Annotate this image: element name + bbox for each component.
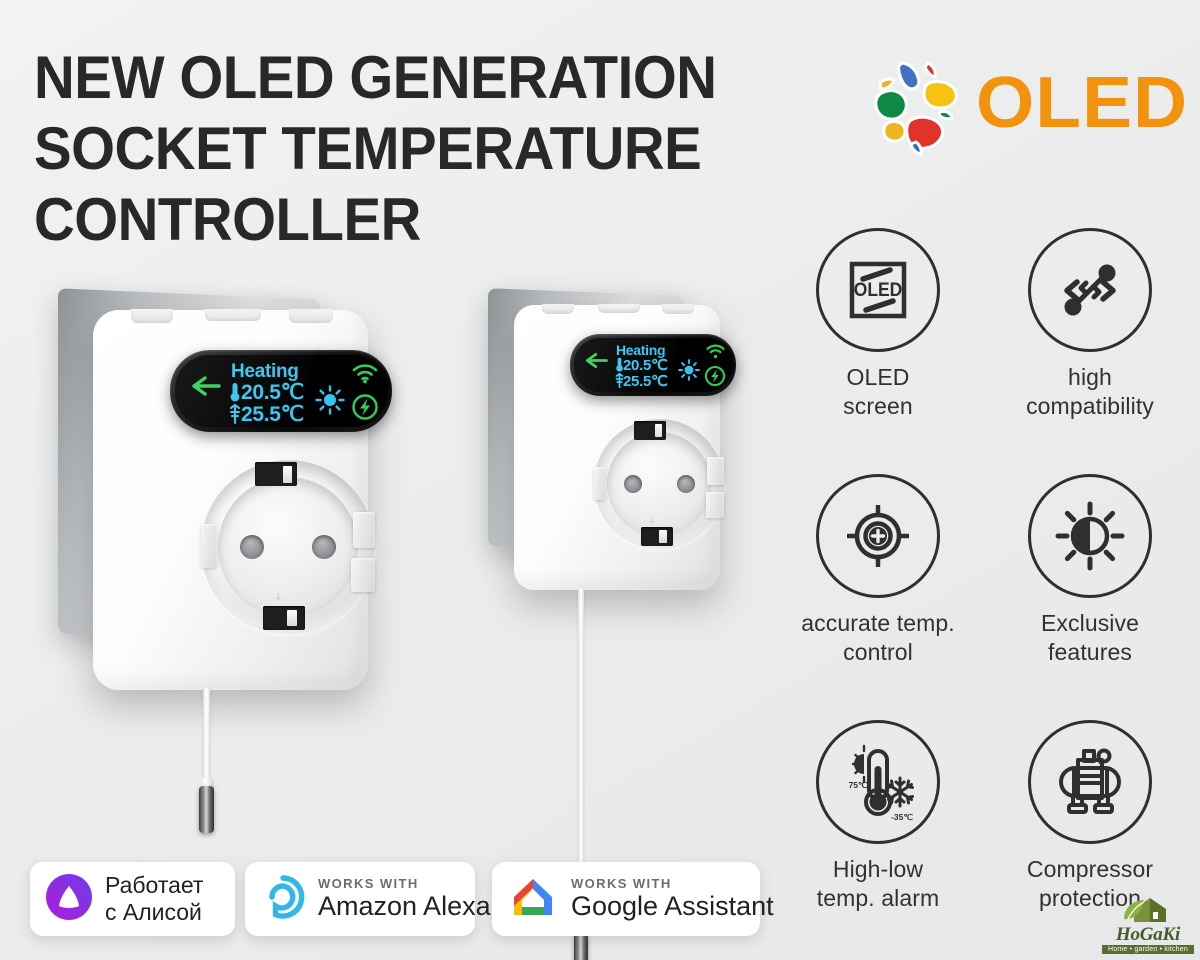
earth-contact-left — [201, 524, 217, 568]
top-notch — [131, 309, 173, 323]
badge-title: Google Assistant — [571, 891, 774, 922]
badge-title: Работает — [105, 872, 203, 899]
oled-display[interactable]: Heating 20.5℃ 25.5℃ — [170, 350, 392, 432]
badge-subtitle: с Алисой — [105, 899, 203, 926]
top-notch — [289, 309, 333, 323]
earth-contact-right — [707, 457, 724, 485]
back-arrow-icon — [191, 375, 221, 397]
compressor-icon — [1028, 720, 1152, 844]
primary-socket-thermostat: Heating 20.5℃ 25.5℃ — [46, 288, 396, 848]
hogaki-watermark: HoGaKi Home • garden • kitchen — [1102, 895, 1194, 954]
schuko-socket: ⏚ — [201, 460, 375, 634]
shutter-slot-bottom — [263, 606, 305, 630]
crosshair-target-icon — [816, 474, 940, 598]
google-home-icon — [508, 874, 558, 925]
feature-label: OLEDscreen — [778, 363, 978, 421]
feature-label: highcompatibility — [990, 363, 1190, 421]
badge-title: Amazon Alexa — [318, 891, 491, 922]
high-temp-label: 75℃ — [848, 780, 867, 790]
feature-label: High-lowtemp. alarm — [778, 855, 978, 913]
schuko-socket: ⏚ — [594, 419, 724, 549]
wifi-icon — [351, 362, 379, 384]
product-marketing-banner: NEW OLED GENERATION SOCKET TEMPERATURE C… — [0, 0, 1200, 960]
feature-label: accurate temp.control — [778, 609, 978, 667]
svg-text:OLED: OLED — [854, 278, 903, 300]
feature-oled-screen[interactable]: OLED OLEDscreen — [778, 228, 978, 421]
shutter-slot-bottom — [641, 527, 673, 546]
back-arrow-icon — [585, 352, 608, 369]
power-bolt-icon — [704, 365, 726, 387]
badge-works-with-google-assistant[interactable]: WORKS WITH Google Assistant — [492, 862, 760, 936]
headline-line-3: CONTROLLER — [34, 184, 814, 255]
compatibility-icon — [1028, 228, 1152, 352]
earth-contact-left — [594, 467, 606, 500]
socket-pin-hole — [624, 475, 642, 493]
badge-kicker: WORKS WITH — [571, 876, 774, 891]
watermark-name: HoGaKi — [1102, 925, 1194, 945]
thermometer-icon — [228, 382, 242, 402]
earth-symbol-icon: ⏚ — [274, 593, 283, 602]
badge-works-with-alice[interactable]: Работает с Алисой — [30, 862, 235, 936]
oled-display-surface: Heating 20.5℃ 25.5℃ — [574, 338, 732, 392]
badge-kicker: WORKS WITH — [318, 876, 491, 891]
earth-symbol-icon: ⏚ — [648, 518, 656, 526]
oled-pinwheel-icon — [866, 52, 970, 156]
secondary-socket-thermostat: Heating 20.5℃ 25.5℃ — [480, 288, 740, 948]
page-title: NEW OLED GENERATION SOCKET TEMPERATURE C… — [34, 42, 864, 255]
temperature-probe-tip — [574, 933, 588, 960]
hogaki-leaf-house-icon — [1120, 895, 1176, 925]
feature-compressor-protection[interactable]: Compressorprotection — [990, 720, 1190, 913]
feature-high-low-temp-alarm[interactable]: 75℃ -35℃ High-lowte — [778, 720, 978, 913]
wifi-icon — [705, 343, 726, 359]
socket-pin-hole — [312, 535, 336, 559]
shutter-slot-top — [255, 462, 297, 486]
oled-display[interactable]: Heating 20.5℃ 25.5℃ — [570, 334, 736, 396]
socket-pin-hole — [240, 535, 264, 559]
feature-high-compatibility[interactable]: highcompatibility — [990, 228, 1190, 421]
earth-contact-right-lower — [351, 558, 375, 592]
power-bolt-icon — [351, 393, 379, 421]
temperature-probe-tip — [199, 786, 214, 833]
amazon-alexa-icon — [261, 875, 305, 924]
earth-contact-right — [353, 512, 375, 548]
temperature-probe-cable — [203, 688, 210, 786]
low-temp-label: -35℃ — [891, 812, 913, 822]
oled-wordmark: OLED — [976, 64, 1188, 142]
top-notch — [598, 304, 640, 313]
target-temp-value: 25.5℃ — [623, 372, 668, 390]
badge-works-with-alexa[interactable]: WORKS WITH Amazon Alexa — [245, 862, 475, 936]
top-notch — [662, 304, 694, 314]
yandex-alice-icon — [46, 874, 92, 925]
socket-recess-inner: ⏚ — [218, 477, 358, 617]
sun-icon — [315, 385, 345, 415]
feature-label: Exclusivefeatures — [990, 609, 1190, 667]
socket-recess-inner: ⏚ — [607, 432, 711, 536]
brightness-sun-icon — [1028, 474, 1152, 598]
sun-icon — [678, 359, 700, 381]
setpoint-icon — [228, 404, 242, 424]
headline-line-2: SOCKET TEMPERATURE — [34, 113, 814, 184]
earth-contact-right-lower — [706, 492, 724, 518]
oled-brand-logo: OLED — [866, 48, 1116, 160]
headline-line-1: NEW OLED GENERATION — [34, 42, 814, 113]
watermark-tagline: Home • garden • kitchen — [1102, 945, 1194, 954]
feature-accurate-temp-control[interactable]: accurate temp.control — [778, 474, 978, 667]
socket-pin-hole — [677, 475, 695, 493]
feature-exclusive-features[interactable]: Exclusivefeatures — [990, 474, 1190, 667]
top-notch — [205, 309, 261, 321]
target-temp-value: 25.5℃ — [241, 402, 304, 427]
oled-screen-icon: OLED — [816, 228, 940, 352]
shutter-slot-top — [634, 421, 666, 440]
top-notch — [542, 304, 574, 314]
oled-display-surface: Heating 20.5℃ 25.5℃ — [175, 355, 387, 427]
thermometer-alarm-icon: 75℃ -35℃ — [816, 720, 940, 844]
